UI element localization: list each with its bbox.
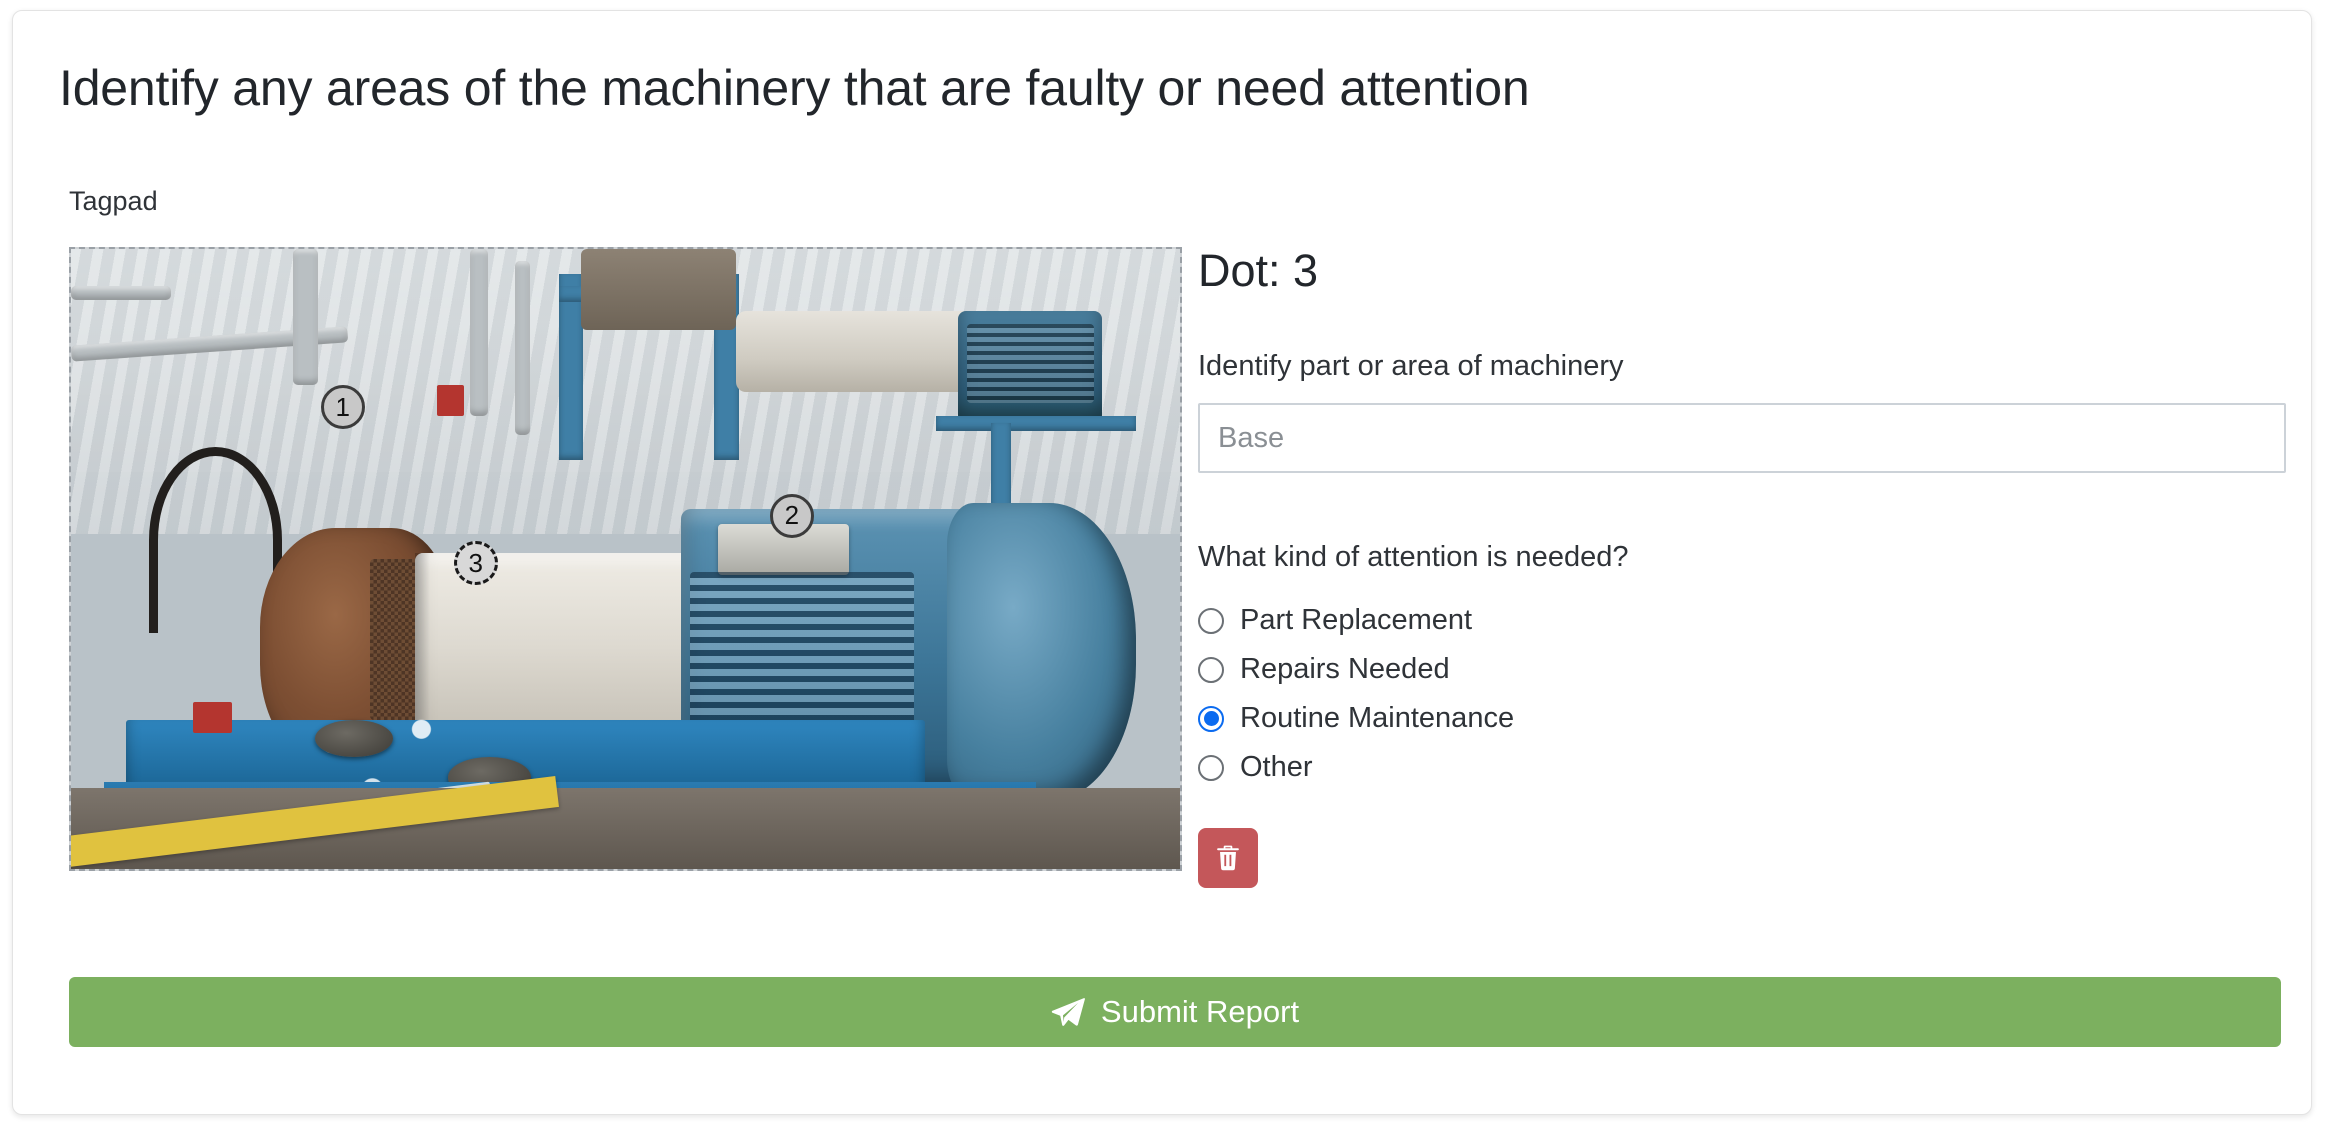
dot-detail-panel: Dot: 3 Identify part or area of machiner… bbox=[1198, 247, 2288, 888]
part-field-label: Identify part or area of machinery bbox=[1198, 350, 2288, 383]
submit-report-button[interactable]: Submit Report bbox=[69, 977, 2281, 1047]
radio-circle-icon[interactable] bbox=[1198, 608, 1224, 634]
tagpad-dot-3[interactable]: 3 bbox=[454, 541, 498, 585]
dot-heading: Dot: 3 bbox=[1198, 247, 2288, 294]
radio-option-routine-maintenance[interactable]: Routine Maintenance bbox=[1198, 694, 2288, 743]
machinery-photo bbox=[71, 249, 1180, 869]
dot-label: 1 bbox=[335, 392, 349, 423]
radio-circle-icon[interactable] bbox=[1198, 657, 1224, 683]
part-or-area-input[interactable] bbox=[1198, 403, 2286, 473]
page-title: Identify any areas of the machinery that… bbox=[59, 59, 1529, 117]
radio-circle-icon[interactable] bbox=[1198, 755, 1224, 781]
radio-option-repairs-needed[interactable]: Repairs Needed bbox=[1198, 645, 2288, 694]
dot-label: 3 bbox=[469, 548, 483, 579]
radio-label: Other bbox=[1240, 753, 1313, 782]
radio-label: Routine Maintenance bbox=[1240, 704, 1514, 733]
radio-option-other[interactable]: Other bbox=[1198, 743, 2288, 792]
tagpad-image-area[interactable]: 1 2 3 bbox=[69, 247, 1182, 871]
radio-option-part-replacement[interactable]: Part Replacement bbox=[1198, 596, 2288, 645]
dot-label: 2 bbox=[785, 500, 799, 531]
radio-label: Part Replacement bbox=[1240, 606, 1472, 635]
report-card: Identify any areas of the machinery that… bbox=[12, 10, 2312, 1115]
radio-circle-checked-icon[interactable] bbox=[1198, 706, 1224, 732]
delete-dot-button[interactable] bbox=[1198, 828, 1258, 888]
submit-report-label: Submit Report bbox=[1101, 994, 1299, 1030]
tagpad-dot-2[interactable]: 2 bbox=[770, 494, 814, 538]
tagpad-dot-1[interactable]: 1 bbox=[321, 385, 365, 429]
trash-icon bbox=[1215, 844, 1241, 872]
radio-label: Repairs Needed bbox=[1240, 655, 1450, 684]
tagpad-label: Tagpad bbox=[69, 186, 158, 217]
app-root: Identify any areas of the machinery that… bbox=[0, 0, 2326, 1138]
paper-plane-icon bbox=[1051, 997, 1085, 1027]
attention-question: What kind of attention is needed? bbox=[1198, 541, 2288, 574]
